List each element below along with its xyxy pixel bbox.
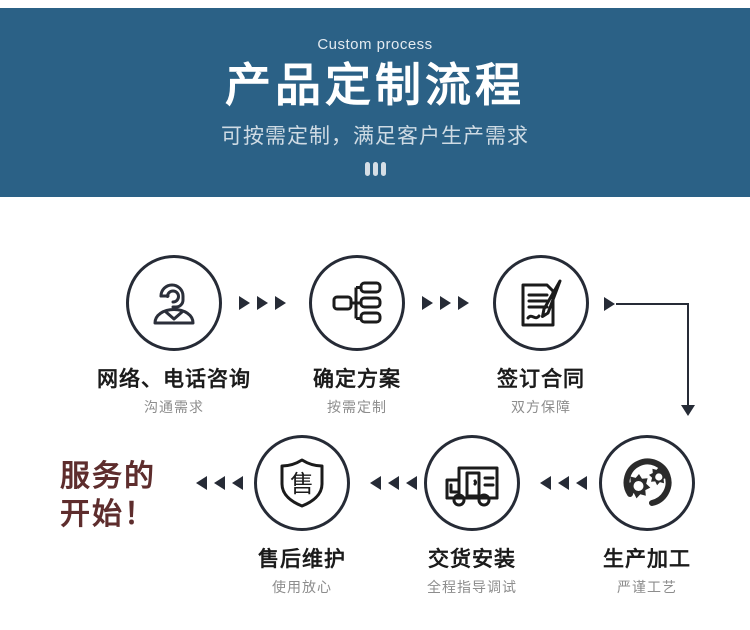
step-aftersales-subtitle: 使用放心: [217, 578, 387, 596]
gears-production-icon: [618, 454, 676, 512]
dot-2: [373, 162, 378, 176]
arrow-right-icon: [440, 296, 451, 310]
step-production-subtitle: 严谨工艺: [562, 578, 732, 596]
header-dots-decoration: [0, 162, 750, 176]
arrow-right-icon: [422, 296, 433, 310]
step-aftersales[interactable]: 售 售后维护 使用放心: [217, 435, 387, 596]
step-production[interactable]: 生产加工 严谨工艺: [562, 435, 732, 596]
step-delivery-subtitle: 全程指导调试: [387, 578, 557, 596]
step-delivery-circle: [424, 435, 520, 531]
custom-process-infographic: Custom process 产品定制流程 可按需定制，满足客户生产需求 网络、…: [0, 0, 750, 630]
step-consultation-title: 网络、电话咨询: [89, 367, 259, 393]
service-start-line-1: 服务的: [60, 458, 190, 496]
step-consultation-subtitle: 沟通需求: [89, 398, 259, 416]
contract-signing-icon: [513, 275, 569, 331]
header-subtitle: 可按需定制，满足客户生产需求: [0, 122, 750, 152]
shield-service-icon: 售: [275, 456, 329, 510]
page-title: 产品定制流程: [0, 56, 750, 114]
step-contract-title: 签订合同: [456, 367, 626, 393]
step-contract-subtitle: 双方保障: [456, 398, 626, 416]
service-start-callout: 服务的 开始！: [60, 458, 190, 534]
dot-3: [381, 162, 386, 176]
shield-character: 售: [290, 470, 314, 498]
step-contract[interactable]: 签订合同 双方保障: [456, 255, 626, 416]
step-plan-circle: [309, 255, 405, 351]
step-production-title: 生产加工: [562, 547, 732, 573]
arrow-right-icon: [257, 296, 268, 310]
arrow-left-icon: [540, 476, 551, 490]
service-start-line-2: 开始！: [60, 496, 190, 534]
connector-horizontal-line: [616, 303, 688, 305]
dot-1: [365, 162, 370, 176]
step-consultation-circle: [126, 255, 222, 351]
arrow-left-icon: [370, 476, 381, 490]
flowchart-icon: [329, 275, 385, 331]
step-contract-circle: [493, 255, 589, 351]
header-eyebrow: Custom process: [0, 36, 750, 53]
flow-connector-elbow: [604, 287, 704, 422]
step-aftersales-circle: 售: [254, 435, 350, 531]
header-banner: Custom process 产品定制流程 可按需定制，满足客户生产需求: [0, 8, 750, 197]
delivery-truck-icon: [443, 454, 501, 512]
connector-vertical-line: [687, 303, 689, 407]
step-delivery[interactable]: 交货安装 全程指导调试: [387, 435, 557, 596]
arrow-right-icon: [239, 296, 250, 310]
connector-arrow-down-icon: [681, 405, 695, 416]
step-plan-title: 确定方案: [272, 367, 442, 393]
connector-arrow-right-icon: [604, 297, 615, 311]
step-delivery-title: 交货安装: [387, 547, 557, 573]
step-plan-subtitle: 按需定制: [272, 398, 442, 416]
step-plan[interactable]: 确定方案 按需定制: [272, 255, 442, 416]
arrow-left-icon: [196, 476, 207, 490]
step-production-circle: [599, 435, 695, 531]
headset-person-icon: [146, 275, 202, 331]
step-aftersales-title: 售后维护: [217, 547, 387, 573]
step-consultation[interactable]: 网络、电话咨询 沟通需求: [89, 255, 259, 416]
